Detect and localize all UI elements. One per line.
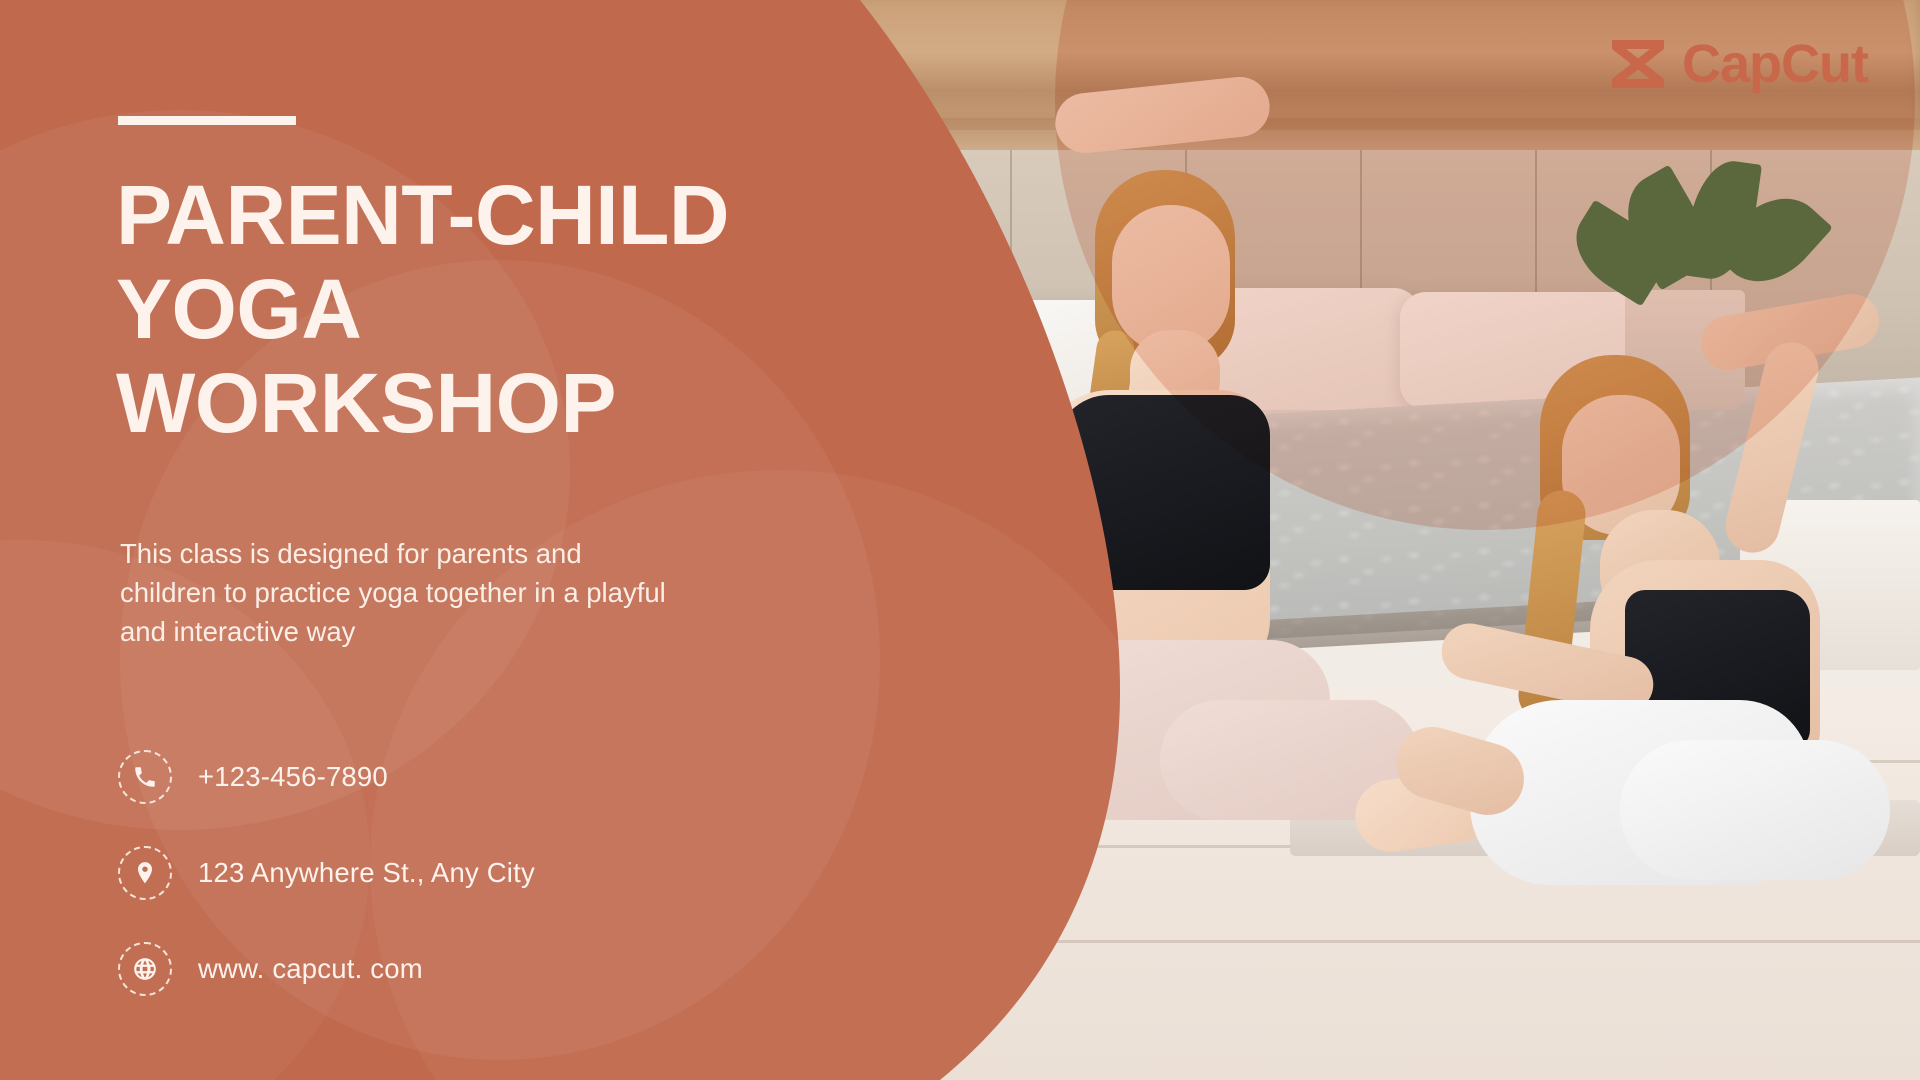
contact-list: +123-456-7890 123 Anywhere St., Any City… <box>118 740 758 1028</box>
title-line-2: YOGA <box>116 262 361 356</box>
capcut-logo[interactable]: CapCut <box>1608 36 1868 92</box>
globe-icon <box>118 942 172 996</box>
content-column: PARENT-CHILD YOGA WORKSHOP This class is… <box>118 0 818 1080</box>
contact-phone-label: +123-456-7890 <box>198 761 388 793</box>
phone-icon <box>118 750 172 804</box>
title-line-1: PARENT-CHILD <box>116 168 729 262</box>
contact-address-label: 123 Anywhere St., Any City <box>198 857 535 889</box>
contact-website-label: www. capcut. com <box>198 953 423 985</box>
capcut-bowtie-icon <box>1608 36 1668 92</box>
capcut-wordmark: CapCut <box>1682 37 1868 91</box>
daughter-leg <box>1620 740 1890 880</box>
poster-canvas: PARENT-CHILD YOGA WORKSHOP This class is… <box>0 0 1920 1080</box>
title-line-3: WORKSHOP <box>116 356 616 450</box>
location-pin-icon <box>118 846 172 900</box>
description-text: This class is designed for parents and c… <box>120 534 720 651</box>
decorative-rule <box>118 116 296 125</box>
contact-item-address[interactable]: 123 Anywhere St., Any City <box>118 836 758 910</box>
description-line-3: and interactive way <box>120 616 355 647</box>
page-title: PARENT-CHILD YOGA WORKSHOP <box>116 168 876 450</box>
contact-item-phone[interactable]: +123-456-7890 <box>118 740 758 814</box>
description-line-2: children to practice yoga together in a … <box>120 577 666 608</box>
contact-item-website[interactable]: www. capcut. com <box>118 932 758 1006</box>
description-line-1: This class is designed for parents and <box>120 538 582 569</box>
